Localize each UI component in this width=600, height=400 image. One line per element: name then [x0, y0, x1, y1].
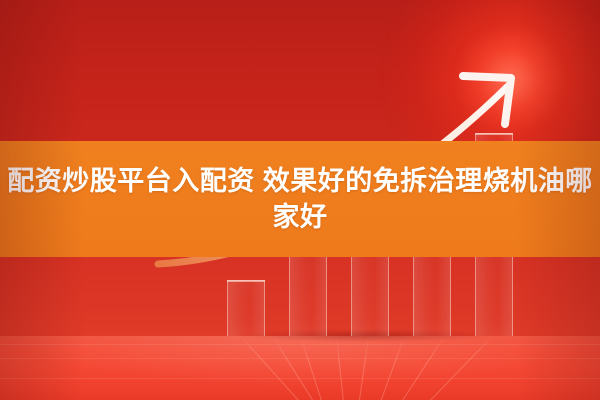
title-line-2: 家好: [273, 198, 328, 236]
banner-image: 配资炒股平台入配资 效果好的免拆治理烧机油哪 家好: [0, 0, 600, 400]
banner-title: 配资炒股平台入配资 效果好的免拆治理烧机油哪 家好: [0, 141, 600, 257]
title-line-1: 配资炒股平台入配资 效果好的免拆治理烧机油哪: [7, 162, 593, 200]
